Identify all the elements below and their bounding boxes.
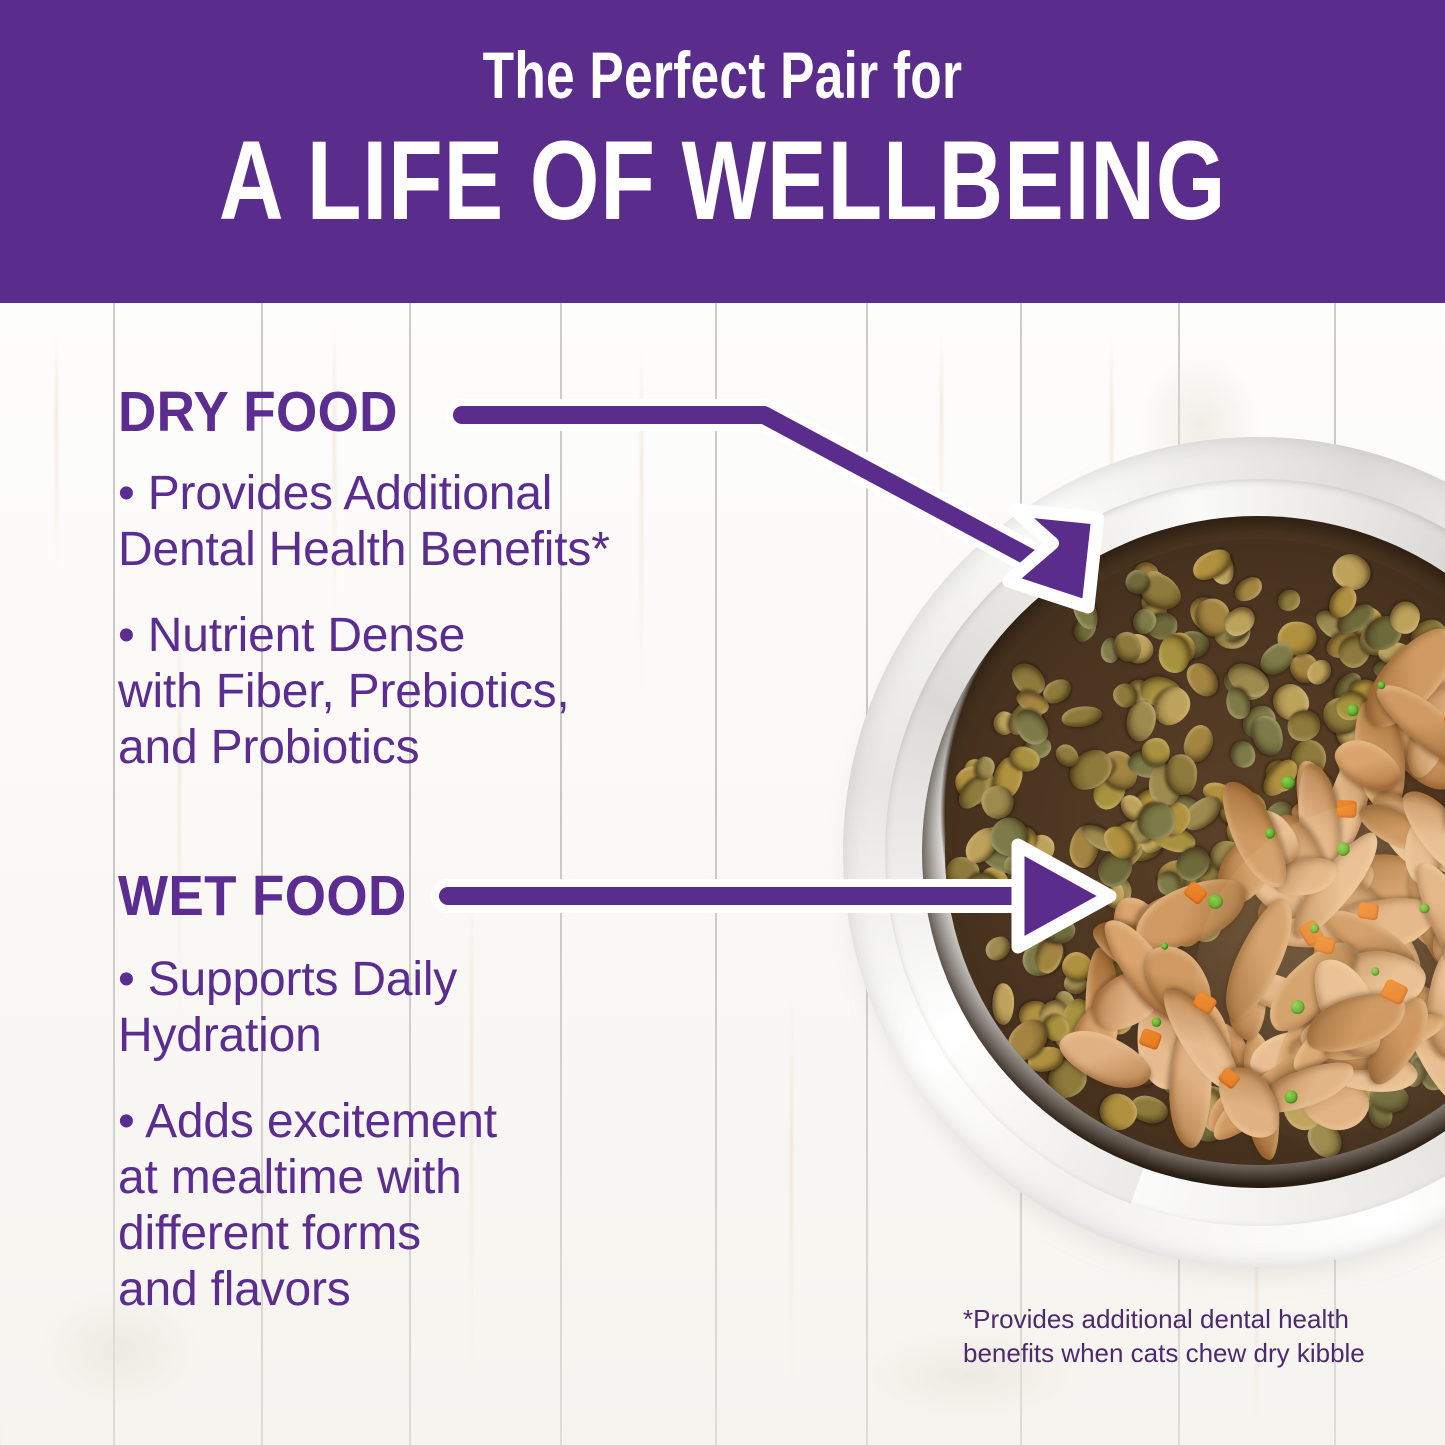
footnote-line: *Provides additional dental health xyxy=(963,1303,1393,1337)
food-layer xyxy=(945,539,1445,1164)
dry-food-section: DRY FOOD xyxy=(118,384,818,441)
bullet-line: Hydration xyxy=(118,1008,818,1064)
bowl-inner-wall xyxy=(922,516,1445,1188)
kibble-piece xyxy=(981,933,1015,966)
kibble-piece xyxy=(993,984,1016,1026)
bullet-line: • Provides Additional xyxy=(118,466,818,522)
dry-food-bullet-2: • Nutrient Dense with Fiber, Prebiotics,… xyxy=(118,608,818,776)
bullet-line: Dental Health Benefits* xyxy=(118,522,818,578)
bullet-line: at mealtime with xyxy=(118,1150,818,1206)
wet-food-bullet-2: • Adds excitement at mealtime with diffe… xyxy=(118,1094,818,1319)
wood-grain-streak xyxy=(55,330,58,570)
wet-food-bullet-1: • Supports Daily Hydration xyxy=(118,952,818,1064)
kibble-piece xyxy=(1060,704,1103,729)
dry-food-bullet-1: • Provides Additional Dental Health Bene… xyxy=(118,466,818,578)
bullet-line: • Adds excitement xyxy=(118,1094,818,1150)
banner-subtitle: The Perfect Pair for xyxy=(483,42,963,108)
bullet-line: with Fiber, Prebiotics, xyxy=(118,664,818,720)
bullet-line: • Supports Daily xyxy=(118,952,818,1008)
carrot-piece xyxy=(1337,800,1358,818)
header-banner: The Perfect Pair for A LIFE OF WELLBEING xyxy=(0,0,1445,303)
kibble-piece xyxy=(1067,589,1102,634)
wet-food-heading: WET FOOD xyxy=(118,868,769,925)
bullet-line: and flavors xyxy=(118,1262,818,1318)
carrot-piece xyxy=(1357,901,1379,920)
kibble-piece xyxy=(1094,1088,1143,1136)
pea-piece xyxy=(1282,776,1295,789)
dry-food-heading: DRY FOOD xyxy=(118,384,769,441)
kibble-piece xyxy=(1275,587,1303,614)
bullet-line: and Probiotics xyxy=(118,720,818,776)
bullet-line: different forms xyxy=(118,1206,818,1262)
kibble-piece xyxy=(1230,573,1266,607)
food-area xyxy=(945,539,1445,1164)
banner-title: A LIFE OF WELLBEING xyxy=(219,122,1226,240)
footnote-line: benefits when cats chew dry kibble xyxy=(963,1337,1393,1371)
poster-canvas: The Perfect Pair for A LIFE OF WELLBEING… xyxy=(0,0,1445,1445)
wet-food-section: WET FOOD xyxy=(118,868,818,925)
footnote-disclaimer: *Provides additional dental health benef… xyxy=(963,1303,1393,1371)
bullet-line: • Nutrient Dense xyxy=(118,608,818,664)
pet-food-bowl-photo xyxy=(843,437,1445,1267)
